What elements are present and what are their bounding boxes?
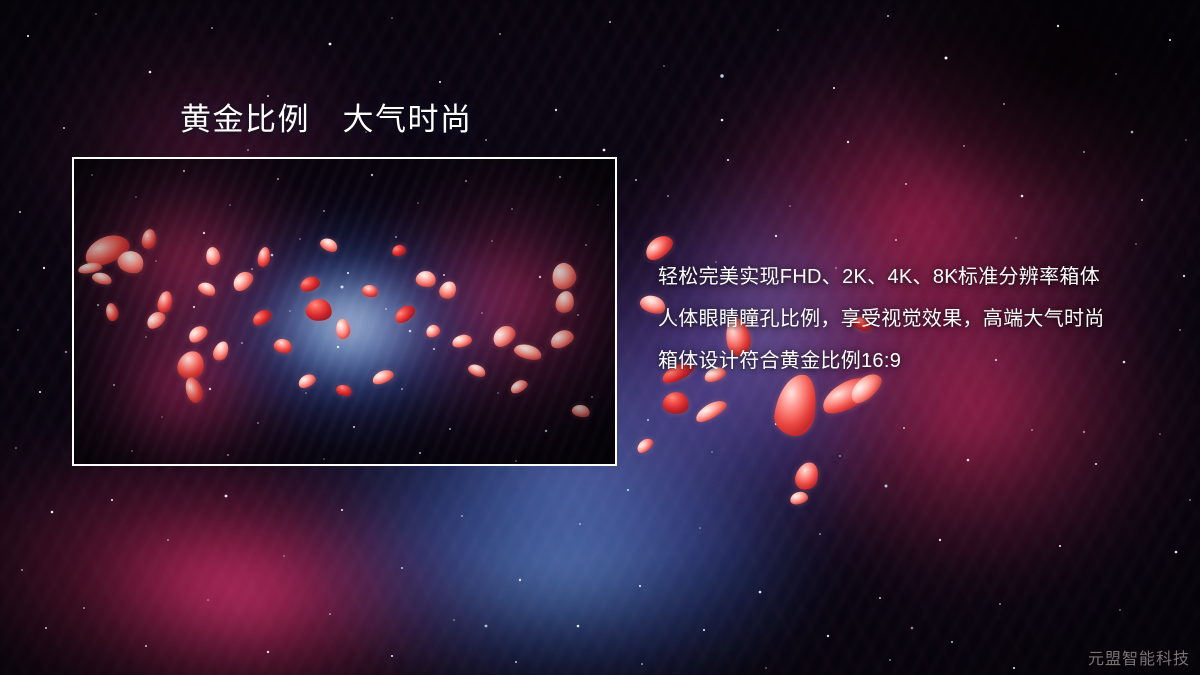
nebula-image-frame[interactable] (72, 157, 617, 466)
nebula-image (74, 159, 615, 464)
description-text-block: 轻松完美实现FHD、2K、4K、8K标准分辨率箱体 人体眼睛瞳孔比例，享受视觉效… (658, 256, 1178, 382)
description-line-2: 人体眼睛瞳孔比例，享受视觉效果，高端大气时尚 (658, 298, 1178, 340)
description-line-3: 箱体设计符合黄金比例16:9 (658, 340, 1178, 382)
page-title: 黄金比例 大气时尚 (180, 100, 473, 140)
presentation-slide: 黄金比例 大气时尚 轻松完美实现FHD、2K、4K、8K标准分辨率箱体 人体眼睛… (0, 0, 1200, 675)
inner-vignette (74, 159, 615, 464)
watermark: 元盟智能科技 (1088, 645, 1190, 669)
description-line-1: 轻松完美实现FHD、2K、4K、8K标准分辨率箱体 (658, 256, 1178, 298)
